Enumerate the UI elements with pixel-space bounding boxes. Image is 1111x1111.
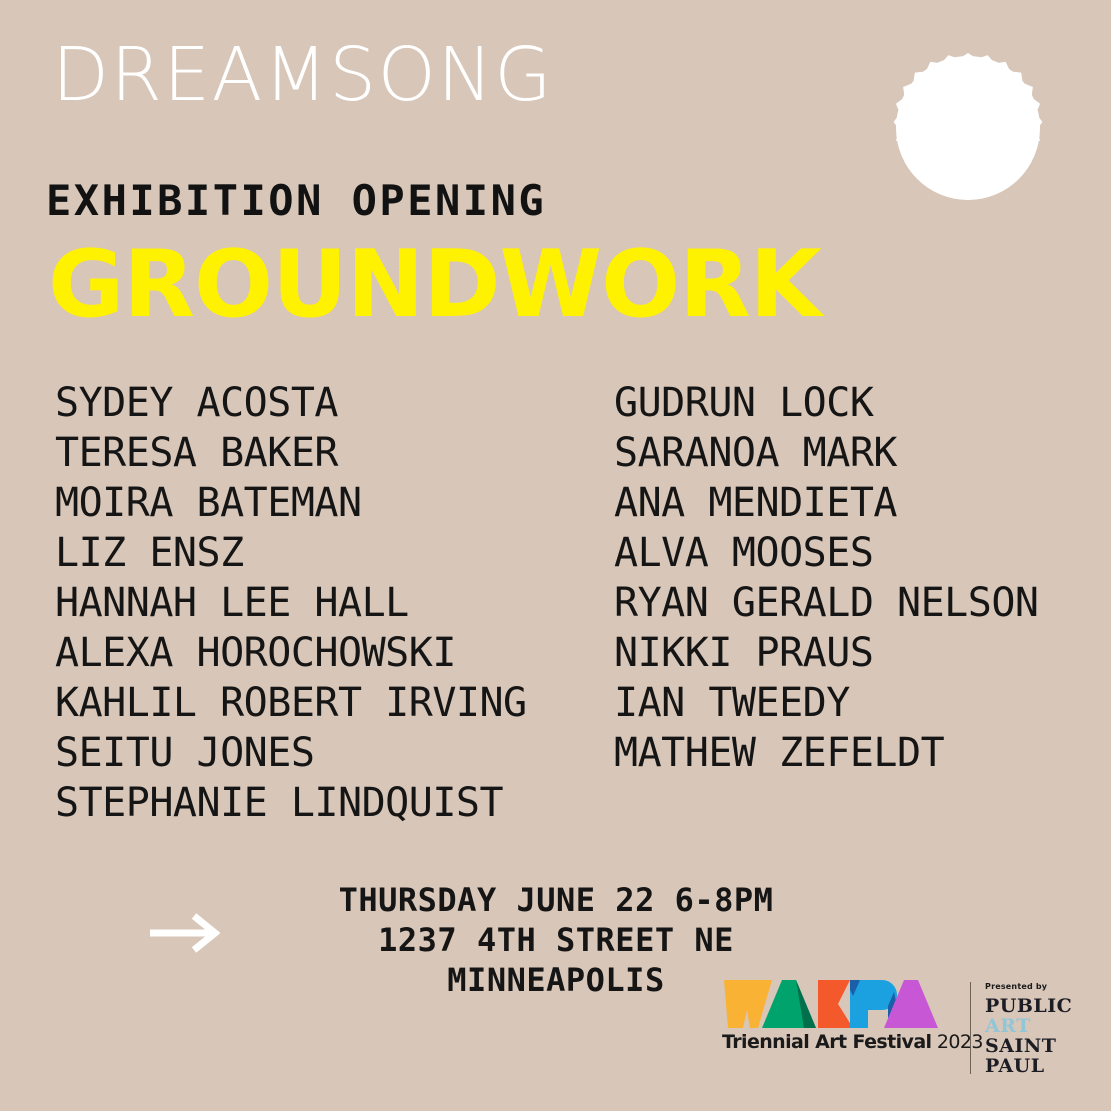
eyebrow-label: EXHIBITION OPENING xyxy=(46,180,546,222)
artist-column-right: GUDRUN LOCK SARANOA MARK ANA MENDIETA AL… xyxy=(614,378,1038,778)
list-item: NIKKI PRAUS xyxy=(614,628,1038,678)
list-item: KAHLIL ROBERT IRVING xyxy=(55,678,527,728)
list-item: IAN TWEEDY xyxy=(614,678,1038,728)
list-item: LIZ ENSZ xyxy=(55,528,527,578)
event-address: 1237 4TH STREET NE xyxy=(236,920,876,960)
list-item: ALVA MOOSES xyxy=(614,528,1038,578)
logo-divider xyxy=(970,982,971,1074)
wakpa-mark-icon xyxy=(722,978,962,1028)
list-item: GUDRUN LOCK xyxy=(614,378,1038,428)
wakpa-logo: Triennial Art Festival 2023 xyxy=(722,978,962,1052)
presenter-line-art: ART xyxy=(985,1016,1072,1036)
presented-by-label: Presented by xyxy=(985,982,1072,991)
wakpa-tagline-bold: Triennial Art Festival xyxy=(722,1031,931,1053)
list-item: HANNAH LEE HALL xyxy=(55,578,527,628)
scalloped-circle-icon xyxy=(878,38,1058,218)
list-item: SEITU JONES xyxy=(55,728,527,778)
list-item: RYAN GERALD NELSON xyxy=(614,578,1038,628)
arrow-right-icon xyxy=(148,913,220,953)
event-datetime: THURSDAY JUNE 22 6-8PM xyxy=(236,880,876,920)
poster-canvas: DREAMSONG EXHIBITION OPENING GROUNDWORK … xyxy=(0,0,1111,1111)
footer-logos: Triennial Art Festival 2023 Presented by… xyxy=(722,978,1082,1093)
presenter-line-paul: PAUL xyxy=(985,1056,1072,1076)
page-title: GROUNDWORK xyxy=(48,238,821,331)
list-item: ALEXA HOROCHOWSKI xyxy=(55,628,527,678)
list-item: ANA MENDIETA xyxy=(614,478,1038,528)
presenter-logo: Presented by PUBLIC ART SAINT PAUL xyxy=(985,978,1072,1076)
list-item: SYDEY ACOSTA xyxy=(55,378,527,428)
presenter-line-saint: SAINT xyxy=(985,1036,1072,1056)
brand-wordmark: DREAMSONG xyxy=(52,38,553,112)
presenter-line-public: PUBLIC xyxy=(985,996,1072,1016)
list-item: TERESA BAKER xyxy=(55,428,527,478)
artist-column-left: SYDEY ACOSTA TERESA BAKER MOIRA BATEMAN … xyxy=(55,378,527,828)
list-item: MATHEW ZEFELDT xyxy=(614,728,1038,778)
list-item: STEPHANIE LINDQUIST xyxy=(55,778,527,828)
list-item: SARANOA MARK xyxy=(614,428,1038,478)
wakpa-tagline: Triennial Art Festival 2023 xyxy=(722,1033,962,1052)
list-item: MOIRA BATEMAN xyxy=(55,478,527,528)
wakpa-tagline-year: 2023 xyxy=(937,1031,983,1053)
